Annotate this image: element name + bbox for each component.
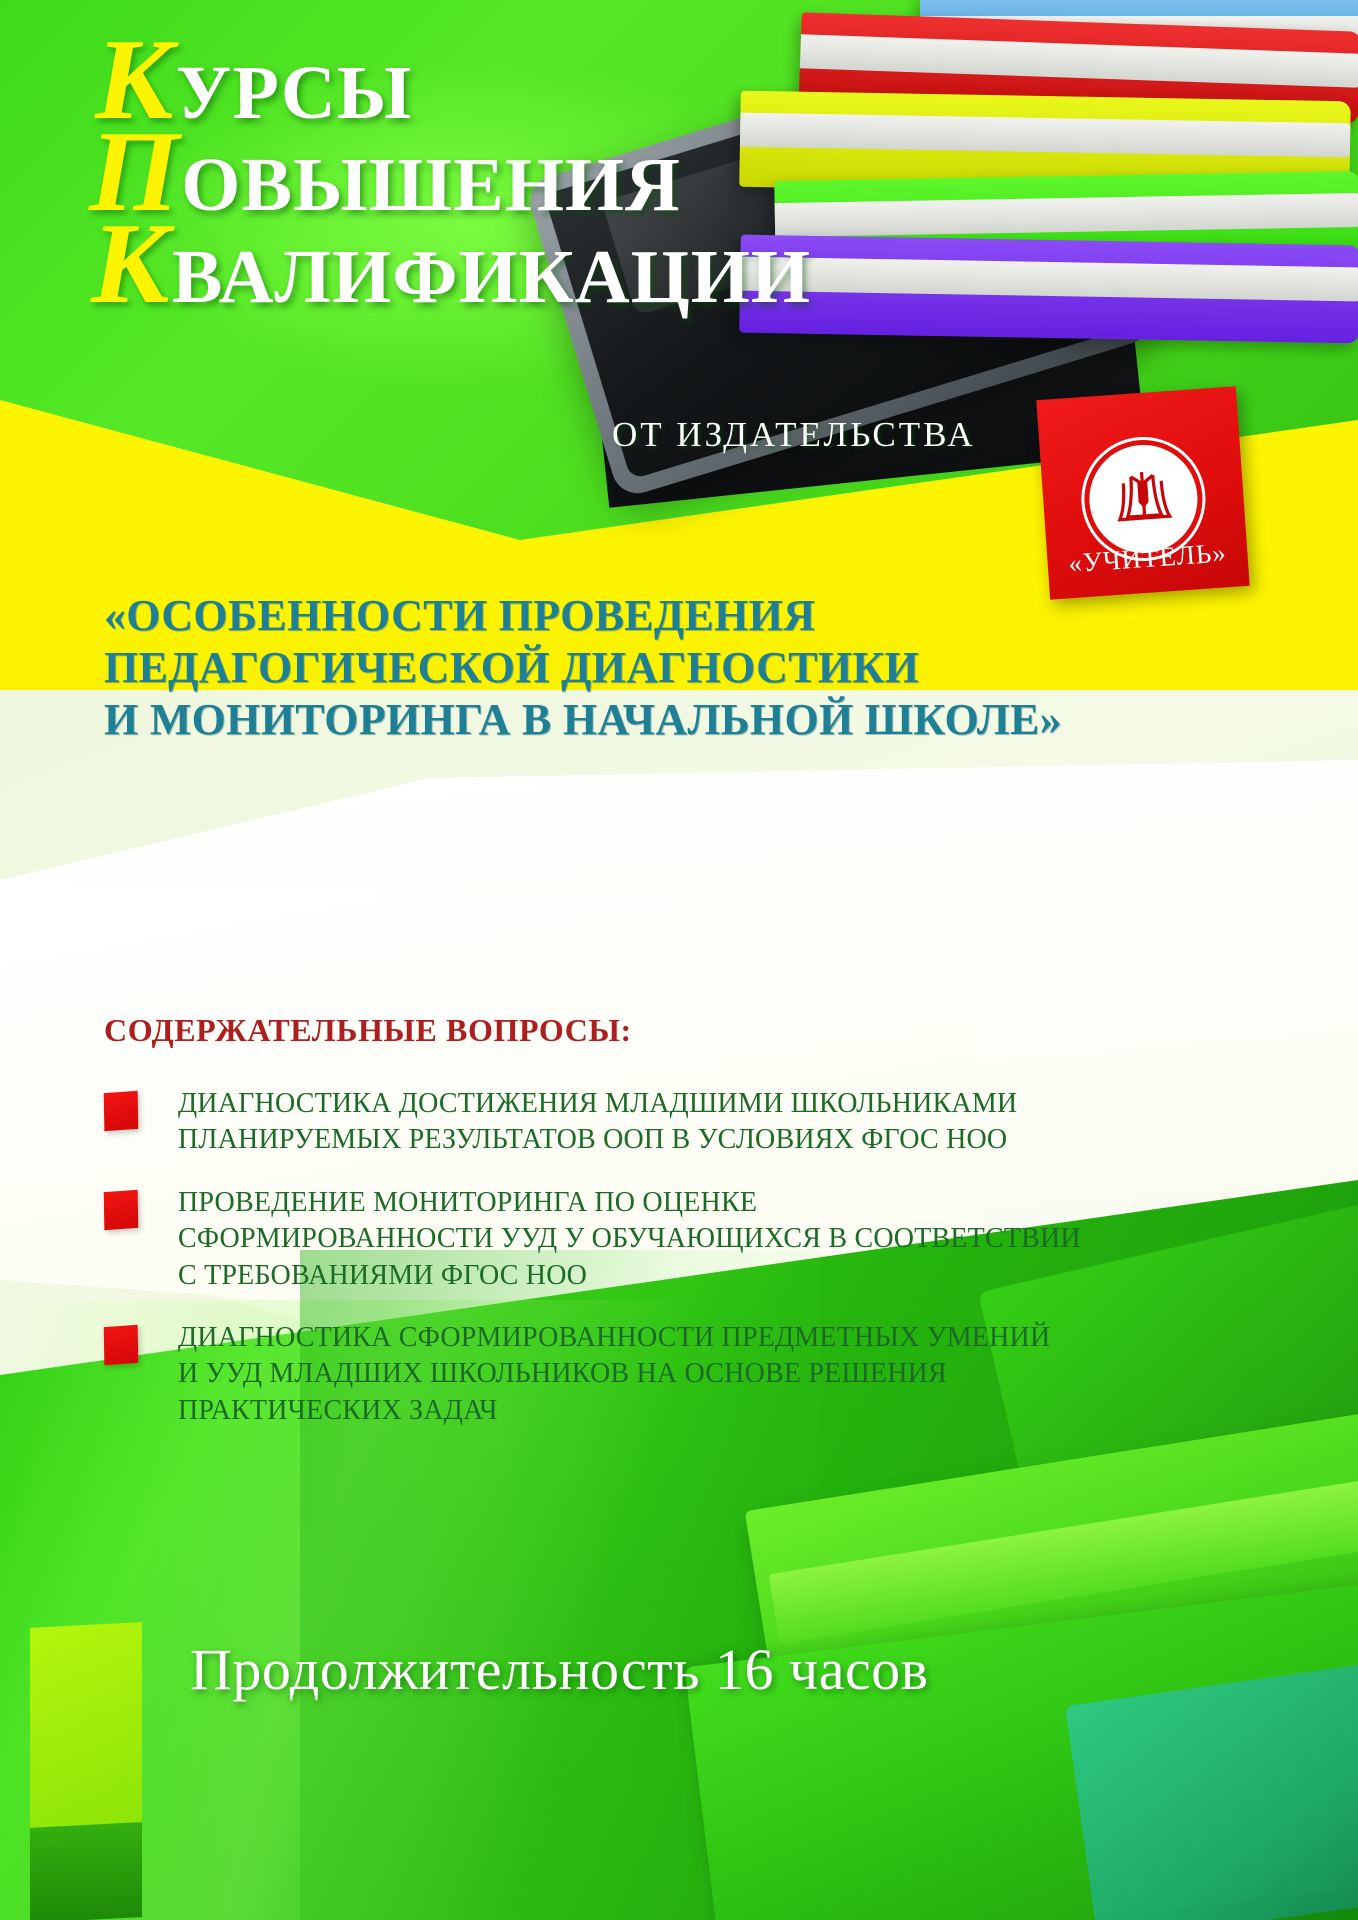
heading-line-1: К УРСЫ: [95, 28, 1095, 120]
list-item-line: ДИАГНОСТИКА СФОРМИРОВАННОСТИ ПРЕДМЕТНЫХ …: [178, 1320, 1050, 1356]
list-item-line: И УУД МЛАДШИХ ШКОЛЬНИКОВ НА ОСНОВЕ РЕШЕН…: [178, 1356, 1050, 1392]
title-line-3: И МОНИТОРИНГА В НАЧАЛЬНОЙ ШКОЛЕ»: [104, 694, 1294, 746]
list-item: ДИАГНОСТИКА ДОСТИЖЕНИЯ МЛАДШИМИ ШКОЛЬНИК…: [104, 1086, 1254, 1159]
list-item: ПРОВЕДЕНИЕ МОНИТОРИНГА ПО ОЦЕНКЕ СФОРМИР…: [104, 1185, 1254, 1294]
list-item-text: ДИАГНОСТИКА СФОРМИРОВАННОСТИ ПРЕДМЕТНЫХ …: [178, 1320, 1050, 1429]
list-item: ДИАГНОСТИКА СФОРМИРОВАННОСТИ ПРЕДМЕТНЫХ …: [104, 1320, 1254, 1429]
lime-accent-block: [30, 1622, 142, 1828]
page-title: «ОСОБЕННОСТИ ПРОВЕДЕНИЯ ПЕДАГОГИЧЕСКОЙ Д…: [104, 590, 1294, 746]
red-square-bullet-icon: [104, 1190, 139, 1230]
poster-heading: К УРСЫ П ОВЫШЕНИЯ К ВАЛИФИКАЦИИ: [95, 28, 1095, 304]
list-item-line: ПЛАНИРУЕМЫХ РЕЗУЛЬТАТОВ ООП В УСЛОВИЯХ Ф…: [178, 1122, 1017, 1158]
content-questions-list: ДИАГНОСТИКА ДОСТИЖЕНИЯ МЛАДШИМИ ШКОЛЬНИК…: [104, 1086, 1254, 1455]
title-line-1: «ОСОБЕННОСТИ ПРОВЕДЕНИЯ: [104, 590, 1294, 642]
from-publisher-label: ОТ ИЗДАТЕЛЬСТВА: [612, 415, 976, 455]
list-item-line: ПРОВЕДЕНИЕ МОНИТОРИНГА ПО ОЦЕНКЕ: [178, 1185, 1081, 1221]
course-duration: Продолжительность 16 часов: [190, 1636, 929, 1703]
red-square-bullet-icon: [104, 1091, 139, 1131]
list-item-line: ДИАГНОСТИКА ДОСТИЖЕНИЯ МЛАДШИМИ ШКОЛЬНИК…: [178, 1086, 1017, 1122]
red-square-bullet-icon: [104, 1325, 139, 1365]
publisher-name: «УЧИТЕЛЬ»: [1047, 536, 1249, 581]
title-line-2: ПЕДАГОГИЧЕСКОЙ ДИАГНОСТИКИ: [104, 642, 1294, 694]
publisher-logo: «УЧИТЕЛЬ»: [1036, 386, 1249, 599]
content-questions-heading: СОДЕРЖАТЕЛЬНЫЕ ВОПРОСЫ:: [104, 1012, 632, 1049]
list-item-line: СФОРМИРОВАННОСТИ УУД У ОБУЧАЮЩИХСЯ В СОО…: [178, 1221, 1081, 1257]
heading-text-1: УРСЫ: [176, 57, 413, 129]
heading-text-2: ОВЫШЕНИЯ: [181, 149, 681, 221]
list-item-line: С ТРЕБОВАНИЯМИ ФГОС НОО: [178, 1258, 1081, 1294]
heading-text-3: ВАЛИФИКАЦИИ: [172, 241, 811, 313]
list-item-text: ДИАГНОСТИКА ДОСТИЖЕНИЯ МЛАДШИМИ ШКОЛЬНИК…: [178, 1086, 1017, 1159]
list-item-text: ПРОВЕДЕНИЕ МОНИТОРИНГА ПО ОЦЕНКЕ СФОРМИР…: [178, 1185, 1081, 1294]
list-item-line: ПРАКТИЧЕСКИХ ЗАДАЧ: [178, 1393, 1050, 1429]
heading-dropcap-3: К: [91, 212, 170, 316]
course-promo-poster: К УРСЫ П ОВЫШЕНИЯ К ВАЛИФИКАЦИИ ОТ ИЗДАТ…: [0, 0, 1358, 1920]
